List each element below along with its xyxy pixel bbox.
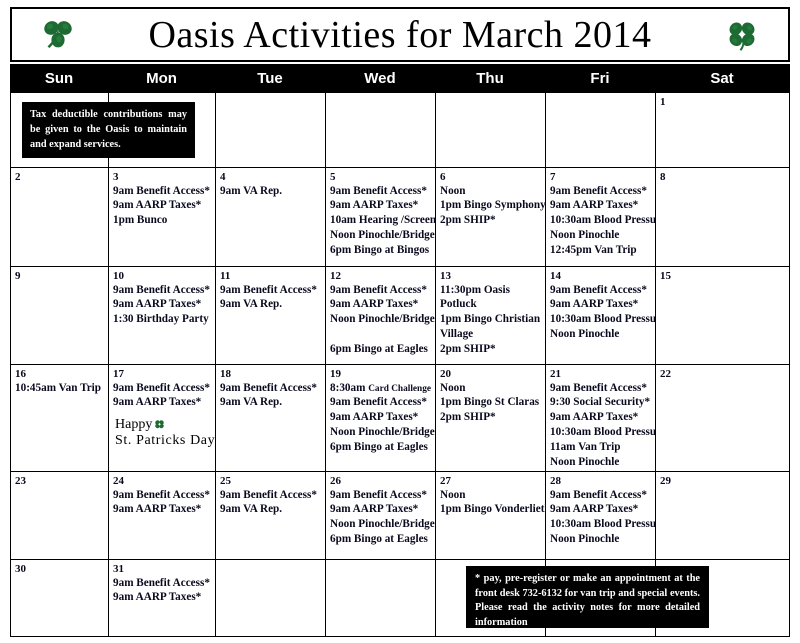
day-number: 2 bbox=[15, 171, 104, 184]
day-event[interactable]: Potluck bbox=[440, 297, 541, 312]
day-number: 22 bbox=[660, 368, 785, 381]
day-event[interactable]: 9am VA Rep. bbox=[220, 395, 321, 410]
day-event[interactable]: 9am Benefit Access* bbox=[550, 381, 651, 396]
weekday-header-sat: Sat bbox=[655, 64, 789, 92]
day-event[interactable]: Noon Pinochle/Bridge bbox=[330, 312, 431, 327]
weekday-header-fri: Fri bbox=[545, 64, 655, 92]
calendar-day-cell-28[interactable]: 289am Benefit Access*9am AARP Taxes* 10:… bbox=[546, 472, 656, 560]
day-event[interactable]: 9am AARP Taxes* bbox=[113, 198, 211, 213]
day-number: 15 bbox=[660, 270, 785, 283]
day-number: 11 bbox=[220, 270, 321, 283]
calendar-day-cell-11[interactable]: 119am Benefit Access*9am VA Rep. bbox=[216, 267, 326, 365]
day-number: 5 bbox=[330, 171, 431, 184]
day-event[interactable]: 9am Benefit Access* bbox=[113, 576, 211, 591]
day-event[interactable]: 9am AARP Taxes* bbox=[113, 395, 211, 410]
day-event[interactable]: 10:30am Blood Pressure bbox=[550, 425, 651, 440]
day-event[interactable]: 10am Hearing /Screen* bbox=[330, 213, 431, 228]
day-event-list: 9am Benefit Access*9am VA Rep. bbox=[220, 488, 321, 518]
day-number: 30 bbox=[15, 563, 104, 576]
weekday-header-thu: Thu bbox=[435, 64, 545, 92]
day-number: 27 bbox=[440, 475, 541, 488]
calendar-day-cell-12[interactable]: 129am Benefit Access*9am AARP Taxes*Noon… bbox=[326, 267, 436, 365]
day-number: 12 bbox=[330, 270, 431, 283]
donation-notice-text: Tax deductible contributions may be give… bbox=[30, 108, 187, 153]
calendar-day-cell-13[interactable]: 1311:30pm OasisPotluck 1pm Bingo Christi… bbox=[436, 267, 546, 365]
calendar-grid: 1239am Benefit Access*9am AARP Taxes* 1p… bbox=[10, 92, 790, 637]
st-patricks-line-2: St. Patricks Day bbox=[115, 433, 215, 449]
day-event[interactable]: Noon Pinochle bbox=[550, 228, 651, 243]
day-event[interactable]: 12:45pm Van Trip bbox=[550, 243, 651, 258]
page-title: Oasis Activities for March 2014 bbox=[86, 16, 714, 54]
day-event[interactable]: Noon Pinochle/Bridge bbox=[330, 517, 431, 532]
day-number: 18 bbox=[220, 368, 321, 381]
calendar-day-cell-7[interactable]: 79am Benefit Access*9am AARP Taxes* 10:3… bbox=[546, 168, 656, 267]
day-event[interactable]: 9am Benefit Access* bbox=[330, 488, 431, 503]
day-event-list: 9am Benefit Access*9am AARP Taxes* 10:30… bbox=[550, 283, 651, 342]
day-event[interactable]: 6pm Bingo at Bingos bbox=[330, 243, 431, 258]
three-leaf-clover-icon bbox=[30, 15, 86, 55]
day-event-list: Noon 1pm Bingo St Claras2pm SHIP* bbox=[440, 381, 541, 425]
donation-notice-box: Tax deductible contributions may be give… bbox=[22, 102, 195, 158]
footnote-notice-box: * pay, pre-register or make an appointme… bbox=[466, 566, 709, 628]
day-number: 25 bbox=[220, 475, 321, 488]
day-event[interactable]: 1pm Bingo St Claras bbox=[440, 395, 541, 410]
calendar-day-cell-empty bbox=[546, 93, 656, 168]
day-number: 26 bbox=[330, 475, 431, 488]
calendar-day-cell-26[interactable]: 269am Benefit Access*9am AARP Taxes*Noon… bbox=[326, 472, 436, 560]
day-event-list: 11:30pm OasisPotluck 1pm Bingo Christian… bbox=[440, 283, 541, 357]
calendar-day-cell-27[interactable]: 27Noon 1pm Bingo Vonderlieth bbox=[436, 472, 546, 560]
calendar-day-cell-10[interactable]: 109am Benefit Access*9am AARP Taxes* 1:3… bbox=[109, 267, 216, 365]
clover-icon bbox=[153, 418, 166, 431]
day-number: 3 bbox=[113, 171, 211, 184]
title-banner: Oasis Activities for March 2014 bbox=[10, 7, 790, 62]
day-number: 8 bbox=[660, 171, 785, 184]
calendar-day-cell-17[interactable]: 179am Benefit Access*9am AARP Taxes*Happ… bbox=[109, 365, 216, 472]
calendar-day-cell-21[interactable]: 219am Benefit Access*9:30 Social Securit… bbox=[546, 365, 656, 472]
calendar-day-cell-16[interactable]: 1610:45am Van Trip bbox=[11, 365, 109, 472]
day-event[interactable]: 9am VA Rep. bbox=[220, 502, 321, 517]
day-event[interactable]: 9am Benefit Access* bbox=[330, 283, 431, 298]
day-event-list: 9am Benefit Access*9am AARP Taxes* 1pm B… bbox=[113, 184, 211, 228]
day-number: 13 bbox=[440, 270, 541, 283]
day-event[interactable]: 1pm Bunco bbox=[113, 213, 211, 228]
day-event[interactable]: 9am Benefit Access* bbox=[550, 488, 651, 503]
day-number: 31 bbox=[113, 563, 211, 576]
calendar-day-cell-18[interactable]: 189am Benefit Access*9am VA Rep. bbox=[216, 365, 326, 472]
calendar-page: Oasis Activities for March 2014 bbox=[0, 0, 800, 643]
day-number: 9 bbox=[15, 270, 104, 283]
calendar-day-cell-empty bbox=[326, 560, 436, 637]
event-spacer bbox=[330, 327, 431, 342]
day-event[interactable]: Village bbox=[440, 327, 541, 342]
day-number: 21 bbox=[550, 368, 651, 381]
day-event[interactable]: 9am AARP Taxes* bbox=[330, 198, 431, 213]
day-event[interactable]: 9am Benefit Access* bbox=[550, 283, 651, 298]
day-number: 4 bbox=[220, 171, 321, 184]
day-event[interactable]: 9am AARP Taxes* bbox=[330, 297, 431, 312]
day-event[interactable]: 9am Benefit Access* bbox=[113, 488, 211, 503]
day-event-list: 9am Benefit Access*9am AARP Taxes* bbox=[113, 488, 211, 518]
calendar-day-cell-31[interactable]: 319am Benefit Access*9am AARP Taxes* bbox=[109, 560, 216, 637]
day-event-list: 8:30am Card Challenge9am Benefit Access*… bbox=[330, 381, 431, 455]
calendar-day-cell-22[interactable]: 22 bbox=[656, 365, 790, 472]
weekday-header-sun: Sun bbox=[10, 64, 108, 92]
calendar-day-cell-19[interactable]: 198:30am Card Challenge9am Benefit Acces… bbox=[326, 365, 436, 472]
day-number: 16 bbox=[15, 368, 104, 381]
day-event[interactable]: 9am AARP Taxes* bbox=[113, 297, 211, 312]
calendar-day-cell-3[interactable]: 39am Benefit Access*9am AARP Taxes* 1pm … bbox=[109, 168, 216, 267]
day-event[interactable]: Noon Pinochle/Bridge bbox=[330, 228, 431, 243]
day-event[interactable]: 9am Benefit Access* bbox=[550, 184, 651, 199]
day-event-list: 9am Benefit Access*9am AARP Taxes* bbox=[113, 381, 211, 411]
day-number: 24 bbox=[113, 475, 211, 488]
day-event-list: 9am Benefit Access*9am AARP Taxes* 10:30… bbox=[550, 488, 651, 547]
day-event[interactable]: 10:30am Blood Pressure bbox=[550, 517, 651, 532]
day-event[interactable]: 9am AARP Taxes* bbox=[113, 590, 211, 605]
day-event[interactable]: 9am Benefit Access* bbox=[113, 184, 211, 199]
four-leaf-clover-icon bbox=[714, 16, 770, 54]
weekday-header-tue: Tue bbox=[215, 64, 325, 92]
day-event[interactable]: 6pm Bingo at Eagles bbox=[330, 532, 431, 547]
day-number: 7 bbox=[550, 171, 651, 184]
calendar-day-cell-empty bbox=[216, 560, 326, 637]
calendar-week-row: 9109am Benefit Access*9am AARP Taxes* 1:… bbox=[11, 267, 790, 365]
calendar-day-cell-30[interactable]: 30 bbox=[11, 560, 109, 637]
day-event[interactable]: 9am AARP Taxes* bbox=[550, 502, 651, 517]
calendar-day-cell-29[interactable]: 29 bbox=[656, 472, 790, 560]
day-event[interactable]: 11am Van Trip bbox=[550, 440, 651, 455]
st-patricks-line-1: Happy bbox=[115, 417, 152, 433]
day-number: 23 bbox=[15, 475, 104, 488]
calendar-day-cell-1[interactable]: 1 bbox=[656, 93, 790, 168]
day-event[interactable]: 9am Benefit Access* bbox=[220, 381, 321, 396]
day-event[interactable]: Noon bbox=[440, 381, 541, 396]
calendar-day-cell-empty bbox=[326, 93, 436, 168]
day-event[interactable]: 9am Benefit Access* bbox=[330, 184, 431, 199]
day-event[interactable]: 2pm SHIP* bbox=[440, 342, 541, 357]
day-event-list: 9am Benefit Access*9am AARP Taxes* bbox=[113, 576, 211, 606]
day-event[interactable]: 6pm Bingo at Eagles bbox=[330, 342, 431, 357]
day-number: 10 bbox=[113, 270, 211, 283]
day-event-list: 9am Benefit Access*9am VA Rep. bbox=[220, 283, 321, 313]
calendar-day-cell-2[interactable]: 2 bbox=[11, 168, 109, 267]
day-event[interactable]: 9am Benefit Access* bbox=[330, 395, 431, 410]
day-number: 20 bbox=[440, 368, 541, 381]
weekday-header-mon: Mon bbox=[108, 64, 215, 92]
day-event[interactable]: Noon Pinochle bbox=[550, 455, 651, 470]
day-event[interactable]: 9:30 Social Security* bbox=[550, 395, 651, 410]
day-event[interactable]: 2pm SHIP* bbox=[440, 213, 541, 228]
day-event[interactable]: 9am AARP Taxes* bbox=[330, 410, 431, 425]
calendar-day-cell-24[interactable]: 249am Benefit Access*9am AARP Taxes* bbox=[109, 472, 216, 560]
day-number: 1 bbox=[660, 96, 785, 109]
calendar-day-cell-23[interactable]: 23 bbox=[11, 472, 109, 560]
calendar-day-cell-6[interactable]: 6Noon 1pm Bingo Symphony2pm SHIP* bbox=[436, 168, 546, 267]
day-event[interactable]: 10:30am Blood Pressure bbox=[550, 312, 651, 327]
day-event-list: Noon 1pm Bingo Vonderlieth bbox=[440, 488, 541, 518]
weekday-header-wed: Wed bbox=[325, 64, 435, 92]
st-patricks-day-graphic: HappySt. Patricks Day bbox=[115, 417, 215, 448]
calendar-day-cell-4[interactable]: 49am VA Rep. bbox=[216, 168, 326, 267]
day-event-list: 10:45am Van Trip bbox=[15, 381, 104, 396]
calendar-day-cell-14[interactable]: 149am Benefit Access*9am AARP Taxes* 10:… bbox=[546, 267, 656, 365]
day-event-list: Noon 1pm Bingo Symphony2pm SHIP* bbox=[440, 184, 541, 228]
day-number: 28 bbox=[550, 475, 651, 488]
day-event-list: 9am VA Rep. bbox=[220, 184, 321, 199]
day-event[interactable]: 9am AARP Taxes* bbox=[550, 198, 651, 213]
day-event[interactable]: 9am VA Rep. bbox=[220, 297, 321, 312]
calendar-day-cell-20[interactable]: 20Noon 1pm Bingo St Claras2pm SHIP* bbox=[436, 365, 546, 472]
day-event[interactable]: 1pm Bingo Vonderlieth bbox=[440, 502, 541, 517]
calendar-day-cell-25[interactable]: 259am Benefit Access*9am VA Rep. bbox=[216, 472, 326, 560]
day-event[interactable]: 1pm Bingo Christian bbox=[440, 312, 541, 327]
day-event[interactable]: 9am Benefit Access* bbox=[220, 283, 321, 298]
day-event[interactable]: 8:30am Card Challenge bbox=[330, 381, 431, 396]
day-event[interactable]: Noon bbox=[440, 184, 541, 199]
calendar-day-cell-9[interactable]: 9 bbox=[11, 267, 109, 365]
day-event-list: 9am Benefit Access*9am AARP Taxes* 10am … bbox=[330, 184, 431, 258]
day-event[interactable]: 9am Benefit Access* bbox=[113, 381, 211, 396]
day-event[interactable]: Noon bbox=[440, 488, 541, 503]
day-event[interactable]: 9am Benefit Access* bbox=[220, 488, 321, 503]
calendar-week-row: 1610:45am Van Trip179am Benefit Access*9… bbox=[11, 365, 790, 472]
day-event[interactable]: 1:30 Birthday Party bbox=[113, 312, 211, 327]
weekday-header-bar: SunMonTueWedThuFriSat bbox=[10, 64, 790, 92]
day-event[interactable]: 9am VA Rep. bbox=[220, 184, 321, 199]
day-event[interactable]: Noon Pinochle/Bridge bbox=[330, 425, 431, 440]
day-number: 14 bbox=[550, 270, 651, 283]
calendar-day-cell-5[interactable]: 59am Benefit Access*9am AARP Taxes* 10am… bbox=[326, 168, 436, 267]
day-event[interactable]: 9am Benefit Access* bbox=[113, 283, 211, 298]
day-event[interactable]: 10:30am Blood Pressure bbox=[550, 213, 651, 228]
day-event[interactable]: 9am AARP Taxes* bbox=[550, 410, 651, 425]
calendar-day-cell-empty bbox=[216, 93, 326, 168]
calendar-day-cell-8[interactable]: 8 bbox=[656, 168, 790, 267]
day-event[interactable]: 10:45am Van Trip bbox=[15, 381, 104, 396]
day-number: 19 bbox=[330, 368, 431, 381]
day-event[interactable]: 9am AARP Taxes* bbox=[330, 502, 431, 517]
day-event-list: 9am Benefit Access*9am AARP Taxes* 10:30… bbox=[550, 184, 651, 258]
day-event-list: 9am Benefit Access*9am AARP Taxes*Noon P… bbox=[330, 283, 431, 357]
calendar-day-cell-15[interactable]: 15 bbox=[656, 267, 790, 365]
day-event[interactable]: 6pm Bingo at Eagles bbox=[330, 440, 431, 455]
day-event-list: 9am Benefit Access*9:30 Social Security*… bbox=[550, 381, 651, 470]
day-event[interactable]: 2pm SHIP* bbox=[440, 410, 541, 425]
day-event[interactable]: 1pm Bingo Symphony bbox=[440, 198, 541, 213]
day-event-list: 9am Benefit Access*9am AARP Taxes*Noon P… bbox=[330, 488, 431, 547]
day-number: 6 bbox=[440, 171, 541, 184]
calendar-week-row: 239am Benefit Access*9am AARP Taxes* 1pm… bbox=[11, 168, 790, 267]
day-event[interactable]: 9am AARP Taxes* bbox=[550, 297, 651, 312]
day-event[interactable]: 9am AARP Taxes* bbox=[113, 502, 211, 517]
calendar-week-row: 23249am Benefit Access*9am AARP Taxes*25… bbox=[11, 472, 790, 560]
day-event[interactable]: 11:30pm Oasis bbox=[440, 283, 541, 298]
day-event-list: 9am Benefit Access*9am AARP Taxes* 1:30 … bbox=[113, 283, 211, 327]
day-event[interactable]: Noon Pinochle bbox=[550, 532, 651, 547]
day-number: 29 bbox=[660, 475, 785, 488]
day-event-list: 9am Benefit Access*9am VA Rep. bbox=[220, 381, 321, 411]
calendar-day-cell-empty bbox=[436, 93, 546, 168]
day-number: 17 bbox=[113, 368, 211, 381]
footnote-notice-text: * pay, pre-register or make an appointme… bbox=[475, 572, 700, 630]
day-event[interactable]: Noon Pinochle bbox=[550, 327, 651, 342]
